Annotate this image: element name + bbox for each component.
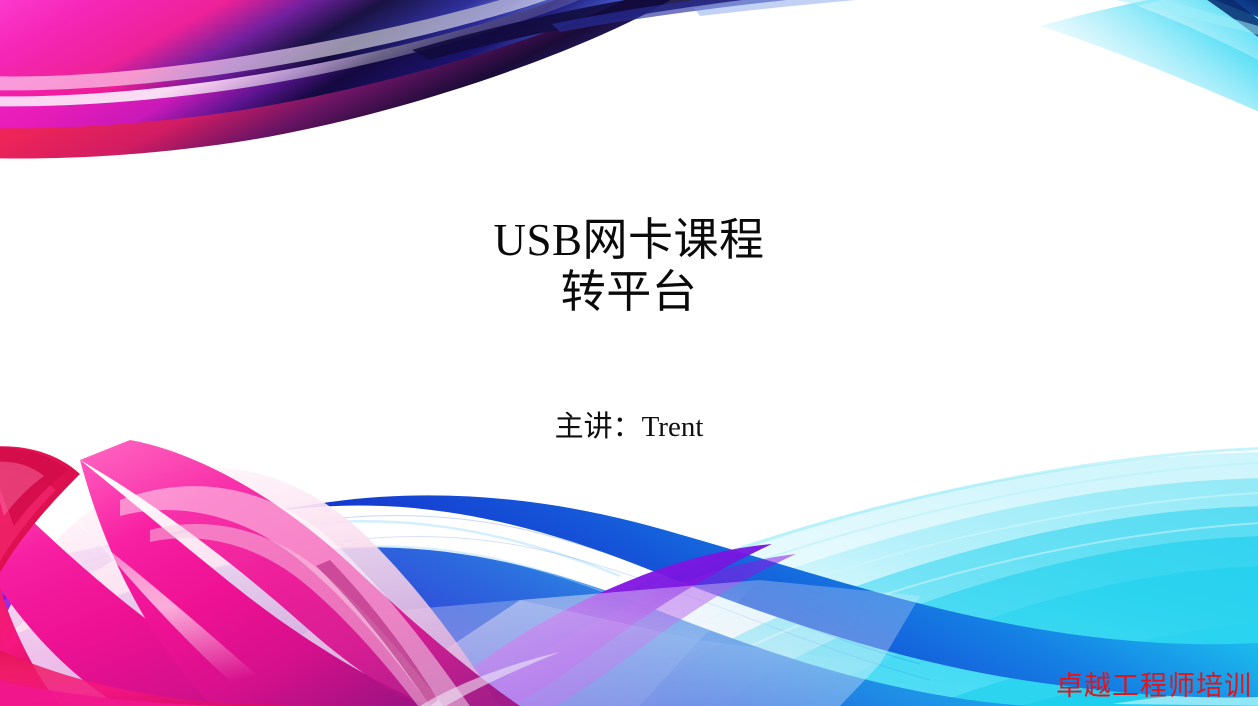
slide-content: USB网卡课程 转平台 主讲：Trent 卓越工程师培训 [0, 0, 1258, 706]
title-line-1: USB网卡课程 [0, 214, 1258, 266]
slide-title: USB网卡课程 转平台 [0, 214, 1258, 318]
brand-watermark: 卓越工程师培训 [1056, 670, 1252, 702]
slide-subtitle: 主讲：Trent [0, 408, 1258, 446]
title-line-2: 转平台 [0, 266, 1258, 318]
presenter-label: 主讲：Trent [0, 408, 1258, 446]
presentation-slide: USB网卡课程 转平台 主讲：Trent 卓越工程师培训 [0, 0, 1258, 706]
